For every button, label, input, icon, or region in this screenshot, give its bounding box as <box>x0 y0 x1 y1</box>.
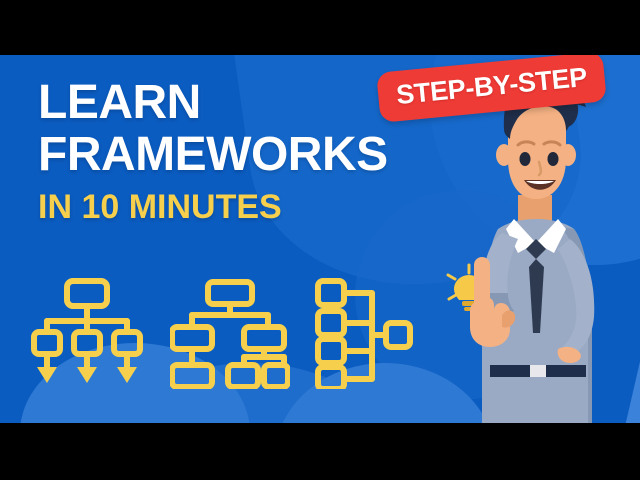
presenter-illustration <box>440 67 640 423</box>
letterbox-bar-top <box>0 0 640 55</box>
thumbnail-canvas: LEARN FRAMEWORKS IN 10 MINUTES STEP-BY-S… <box>0 55 640 423</box>
headline-subline: IN 10 MINUTES <box>38 187 388 227</box>
diagram-icon-row <box>28 277 414 389</box>
bus-network-diagram-icon <box>314 277 414 389</box>
tree-diagram-with-arrows-icon <box>28 277 146 389</box>
headline-block: LEARN FRAMEWORKS IN 10 MINUTES <box>38 77 388 227</box>
headline-line-2: FRAMEWORKS <box>38 129 388 181</box>
headline-line-1: LEARN <box>38 77 388 129</box>
video-thumbnail: LEARN FRAMEWORKS IN 10 MINUTES STEP-BY-S… <box>0 0 640 480</box>
step-by-step-badge-label: STEP-BY-STEP <box>395 62 588 110</box>
org-chart-diagram-icon <box>170 277 290 389</box>
letterbox-bar-bottom <box>0 423 640 480</box>
